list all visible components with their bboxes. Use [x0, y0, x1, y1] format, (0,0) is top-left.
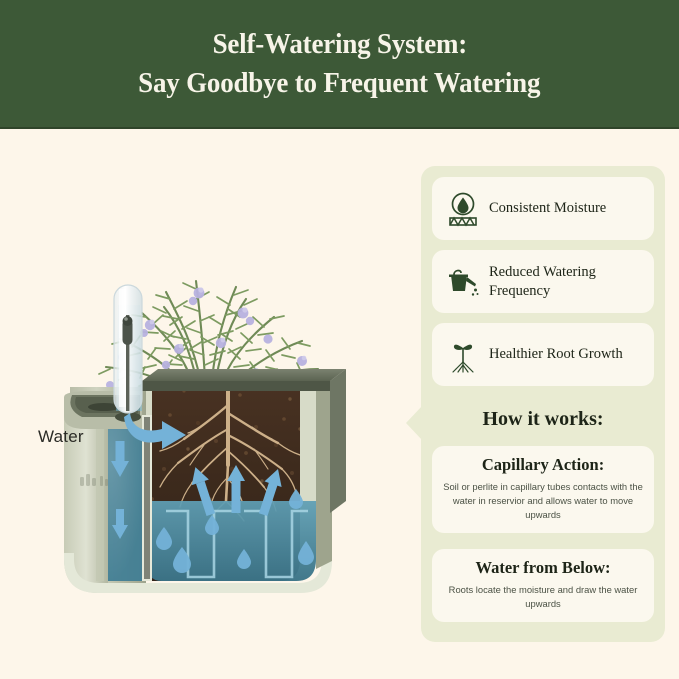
planter-cross-section [0, 129, 421, 679]
feature-label: Reduced Watering Frequency [485, 263, 654, 300]
watering-can-icon [441, 260, 485, 304]
page-title-line-2: Say Goodbye to Frequent Watering [138, 64, 540, 103]
feature-card-consistent-moisture[interactable]: Consistent Moisture [432, 177, 654, 240]
header-banner: Self-Watering System: Say Goodbye to Fre… [0, 0, 679, 129]
how-card-body: Soil or perlite in capillary tubes conta… [442, 480, 644, 522]
infographic-root: Self-Watering System: Say Goodbye to Fre… [0, 0, 679, 679]
feature-card-reduced-watering[interactable]: Reduced Watering Frequency [432, 250, 654, 313]
how-card-water-from-below[interactable]: Water from Below: Roots locate the moist… [432, 549, 654, 622]
water-drop-soil-icon [441, 187, 485, 231]
seedling-roots-icon [441, 333, 485, 377]
water-label: Water [38, 427, 84, 447]
how-it-works-heading: How it works: [421, 408, 665, 431]
feature-label: Healthier Root Growth [485, 345, 629, 364]
how-card-body: Roots locate the moisture and draw the w… [442, 583, 644, 611]
how-card-title: Water from Below: [442, 558, 644, 578]
water-level-gauge [114, 285, 142, 413]
feature-card-healthier-roots[interactable]: Healthier Root Growth [432, 323, 654, 386]
planter-illustration: Water [0, 129, 421, 679]
water-reservoir [146, 489, 316, 581]
how-card-title: Capillary Action: [442, 455, 644, 475]
feature-label: Consistent Moisture [485, 199, 612, 218]
page-title-line-1: Self-Watering System: [212, 25, 467, 64]
how-card-capillary-action[interactable]: Capillary Action: Soil or perlite in cap… [432, 446, 654, 533]
